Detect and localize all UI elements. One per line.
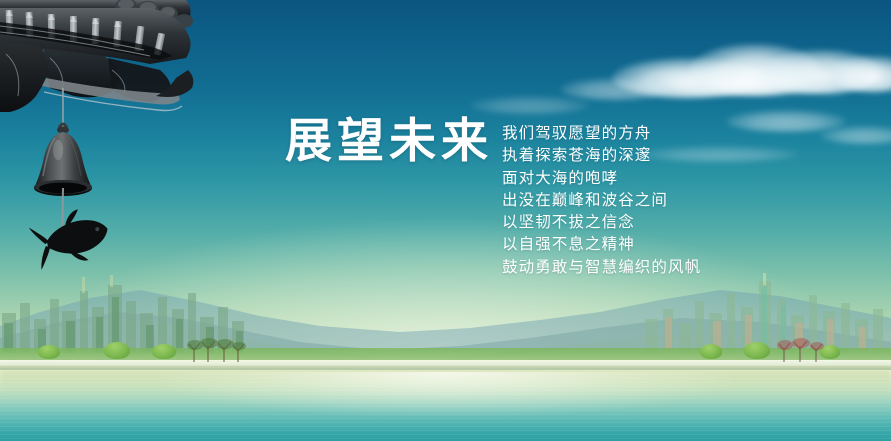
fish-pendant-icon xyxy=(27,203,113,272)
bush-icon xyxy=(700,344,722,359)
water-surface xyxy=(0,370,891,441)
tree-cluster-right xyxy=(776,336,824,362)
bush-icon xyxy=(744,342,770,359)
cloud-icon xyxy=(470,96,590,114)
city-skyline-right xyxy=(641,273,891,353)
cloud-icon xyxy=(560,78,670,100)
poem-line: 鼓动勇敢与智慧编织的风帆 xyxy=(502,256,701,278)
bush-icon xyxy=(104,342,130,359)
poem-line: 面对大海的咆哮 xyxy=(502,167,701,189)
poem-line: 我们驾驭愿望的方舟 xyxy=(502,122,701,144)
poem-line: 执着探索苍海的深邃 xyxy=(502,144,701,166)
banner-poster: 展望未来 我们驾驭愿望的方舟 执着探索苍海的深邃 面对大海的咆哮 出没在巅峰和波… xyxy=(0,0,891,441)
tree-cluster-left xyxy=(186,336,246,362)
poem-line: 以坚韧不拔之信念 xyxy=(502,211,701,233)
poem-line: 出没在巅峰和波谷之间 xyxy=(502,189,701,211)
bush-icon xyxy=(38,345,60,359)
poem-text: 我们驾驭愿望的方舟 执着探索苍海的深邃 面对大海的咆哮 出没在巅峰和波谷之间 以… xyxy=(502,122,701,278)
bush-icon xyxy=(152,344,176,359)
page-title: 展望未来 xyxy=(285,118,493,165)
cloud-icon xyxy=(660,66,840,96)
poem-line: 以自强不息之精神 xyxy=(502,233,701,255)
wind-bell-icon xyxy=(22,88,132,288)
water-ripples xyxy=(0,370,891,441)
